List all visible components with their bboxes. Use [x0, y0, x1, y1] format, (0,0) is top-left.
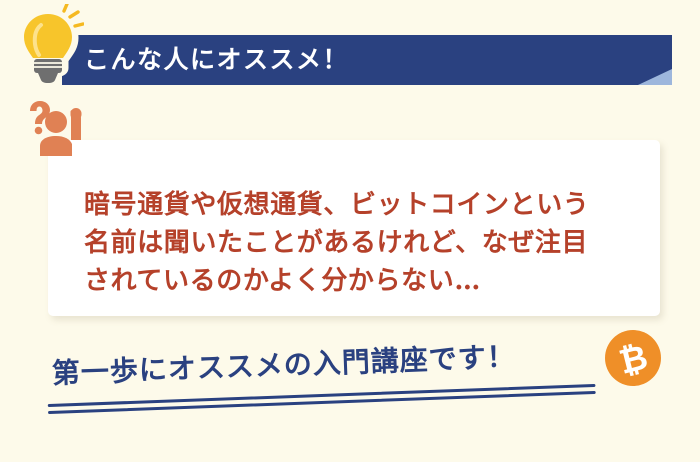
bitcoin-icon: ₿ — [604, 329, 662, 387]
card-text-line-3: されているのかよく分からない… — [84, 262, 664, 300]
card-text-line-2: 名前は聞いたことがあるけれど、なぜ注目 — [84, 224, 664, 262]
lightbulb-icon — [12, 4, 84, 90]
banner-title: こんな人にオススメ！ — [84, 41, 644, 79]
infographic-canvas: こんな人にオススメ！ — [0, 0, 700, 462]
card-text-block: 暗号通貨や仮想通貨、ビットコインという 名前は聞いたことがあるけれど、なぜ注目 … — [84, 186, 664, 300]
card-text-line-1: 暗号通貨や仮想通貨、ビットコインという — [84, 186, 664, 224]
person-with-question-icon — [20, 100, 92, 156]
